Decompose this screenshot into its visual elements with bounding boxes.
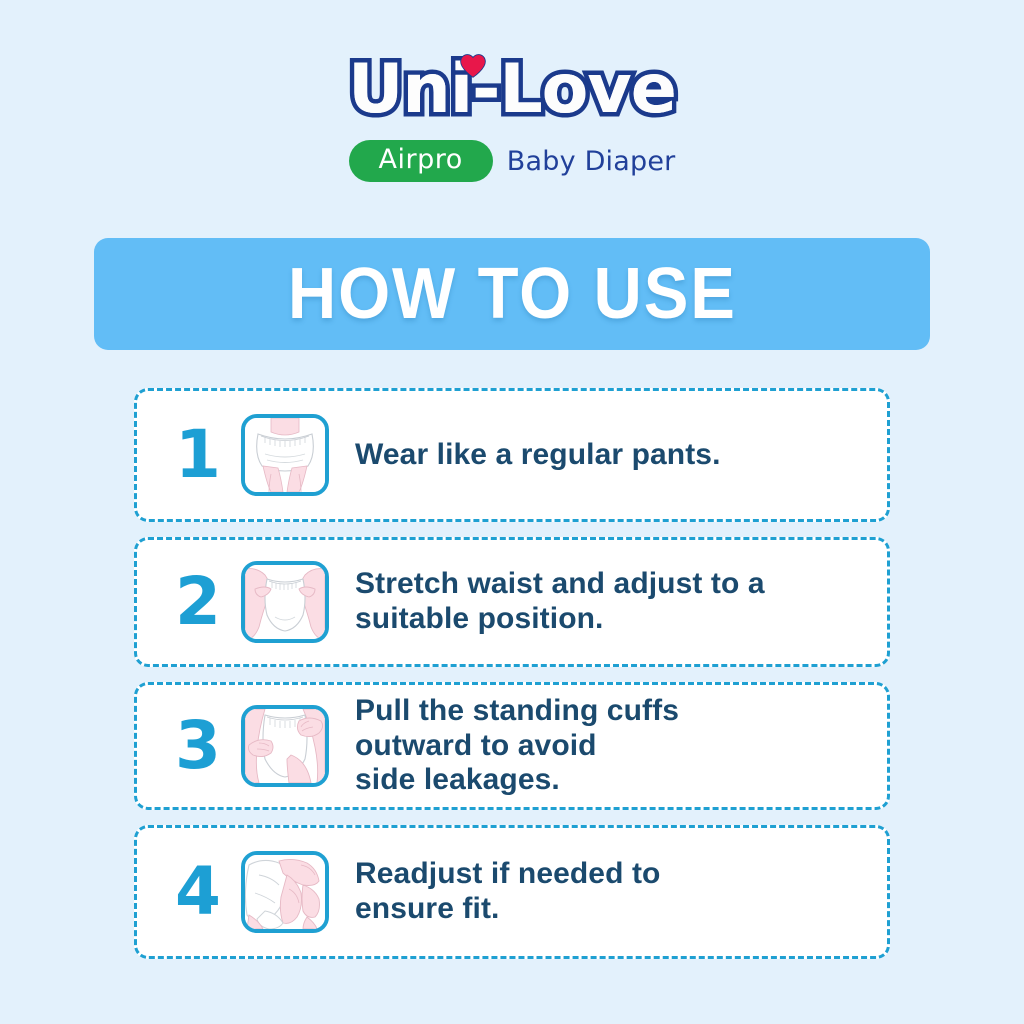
page-title: HOW TO USE xyxy=(288,253,737,335)
step-card-4: 4 Readjust if needed to ensure xyxy=(134,825,890,959)
how-to-use-banner: HOW TO USE xyxy=(94,238,930,350)
product-type-label: Baby Diaper xyxy=(507,146,676,177)
step-card-1: 1 xyxy=(134,388,890,522)
step-number-1: 1 xyxy=(155,422,241,488)
steps-list: 1 xyxy=(134,388,890,974)
step-number-2: 2 xyxy=(155,569,241,635)
pull-cuffs-thumbnail xyxy=(241,705,329,787)
how-to-use-infographic: Uni-Love Uni-Love Airpro Baby Diaper HOW… xyxy=(0,0,1024,1024)
diaper-worn-thumbnail xyxy=(241,414,329,496)
brand-subtitle-row: Airpro Baby Diaper xyxy=(349,140,676,182)
heart-icon xyxy=(460,54,486,78)
step-number-4: 4 xyxy=(155,859,241,925)
step-text-4: Readjust if needed to ensure fit. xyxy=(355,857,660,927)
readjust-fit-thumbnail xyxy=(241,851,329,933)
uni-love-logo: Uni-Love Uni-Love xyxy=(348,56,676,124)
step-text-3: Pull the standing cuffs outward to avoid… xyxy=(355,694,679,798)
step-text-1: Wear like a regular pants. xyxy=(355,438,721,473)
step-text-2: Stretch waist and adjust to a suitable p… xyxy=(355,567,765,637)
stretch-waist-thumbnail xyxy=(241,561,329,643)
logo-wordmark-fill: Uni-Love xyxy=(348,56,676,124)
step-number-3: 3 xyxy=(155,713,241,779)
airpro-badge: Airpro xyxy=(349,140,493,182)
brand-header: Uni-Love Uni-Love Airpro Baby Diaper xyxy=(0,56,1024,182)
step-card-2: 2 xyxy=(134,537,890,667)
step-card-3: 3 xyxy=(134,682,890,810)
